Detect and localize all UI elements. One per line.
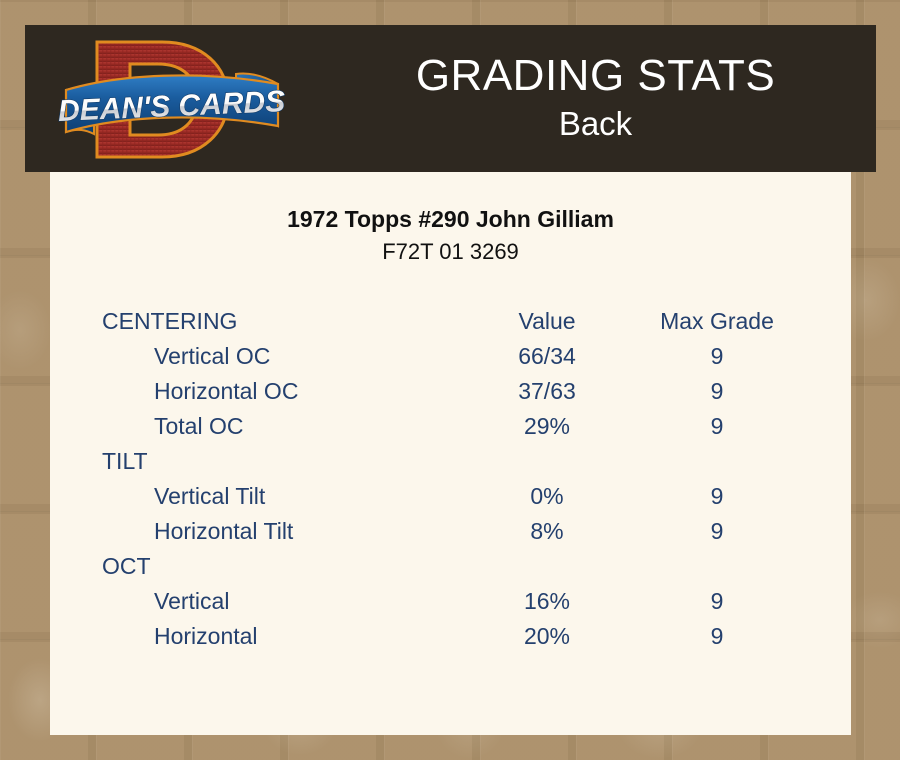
section-header-row: OCT: [102, 549, 802, 584]
section-spacer-grade: [632, 444, 802, 479]
grading-stats-page: DEAN'S CARDS GRADING STATS Back 1972 Top…: [0, 0, 900, 760]
section-header-row: TILT: [102, 444, 802, 479]
stat-value: 0%: [462, 479, 632, 514]
section-spacer-grade: [632, 549, 802, 584]
table-row: Horizontal OC37/639: [102, 374, 802, 409]
stat-max-grade: 9: [632, 339, 802, 374]
table-row: Horizontal Tilt8%9: [102, 514, 802, 549]
stat-label: Horizontal: [102, 619, 462, 654]
stat-label: Horizontal Tilt: [102, 514, 462, 549]
stat-label: Vertical OC: [102, 339, 462, 374]
stat-label: Vertical Tilt: [102, 479, 462, 514]
logo-icon: DEAN'S CARDS: [50, 30, 315, 170]
stat-max-grade: 9: [632, 584, 802, 619]
column-header-value: Value: [462, 304, 632, 339]
section-header-row: CENTERINGValueMax Grade: [102, 304, 802, 339]
card-title: 1972 Topps #290 John Gilliam: [50, 206, 851, 234]
stat-max-grade: 9: [632, 409, 802, 444]
section-spacer-value: [462, 549, 632, 584]
stat-value: 20%: [462, 619, 632, 654]
column-header-max-grade: Max Grade: [632, 304, 802, 339]
section-label: CENTERING: [102, 304, 462, 339]
table-row: Vertical OC66/349: [102, 339, 802, 374]
stat-value: 37/63: [462, 374, 632, 409]
table-row: Horizontal20%9: [102, 619, 802, 654]
stat-label: Vertical: [102, 584, 462, 619]
stat-value: 29%: [462, 409, 632, 444]
header-title-block: GRADING STATS Back: [315, 25, 876, 172]
table-row: Vertical Tilt0%9: [102, 479, 802, 514]
header-bar: DEAN'S CARDS GRADING STATS Back: [25, 25, 876, 172]
page-subtitle: Back: [559, 103, 632, 144]
stat-value: 66/34: [462, 339, 632, 374]
content-panel: 1972 Topps #290 John Gilliam F72T 01 326…: [50, 172, 851, 735]
stat-label: Horizontal OC: [102, 374, 462, 409]
deans-cards-logo[interactable]: DEAN'S CARDS: [50, 30, 315, 170]
grading-stats-table: CENTERINGValueMax GradeVertical OC66/349…: [102, 304, 802, 654]
stat-max-grade: 9: [632, 374, 802, 409]
section-label: TILT: [102, 444, 462, 479]
stat-value: 16%: [462, 584, 632, 619]
table-row: Total OC29%9: [102, 409, 802, 444]
stat-max-grade: 9: [632, 479, 802, 514]
table-row: Vertical16%9: [102, 584, 802, 619]
section-spacer-value: [462, 444, 632, 479]
card-code: F72T 01 3269: [50, 239, 851, 265]
stat-label: Total OC: [102, 409, 462, 444]
stat-value: 8%: [462, 514, 632, 549]
card-heading: 1972 Topps #290 John Gilliam F72T 01 326…: [50, 206, 851, 265]
stat-max-grade: 9: [632, 514, 802, 549]
section-label: OCT: [102, 549, 462, 584]
page-title: GRADING STATS: [416, 53, 775, 99]
grading-stats-body: CENTERINGValueMax GradeVertical OC66/349…: [102, 304, 802, 654]
stat-max-grade: 9: [632, 619, 802, 654]
